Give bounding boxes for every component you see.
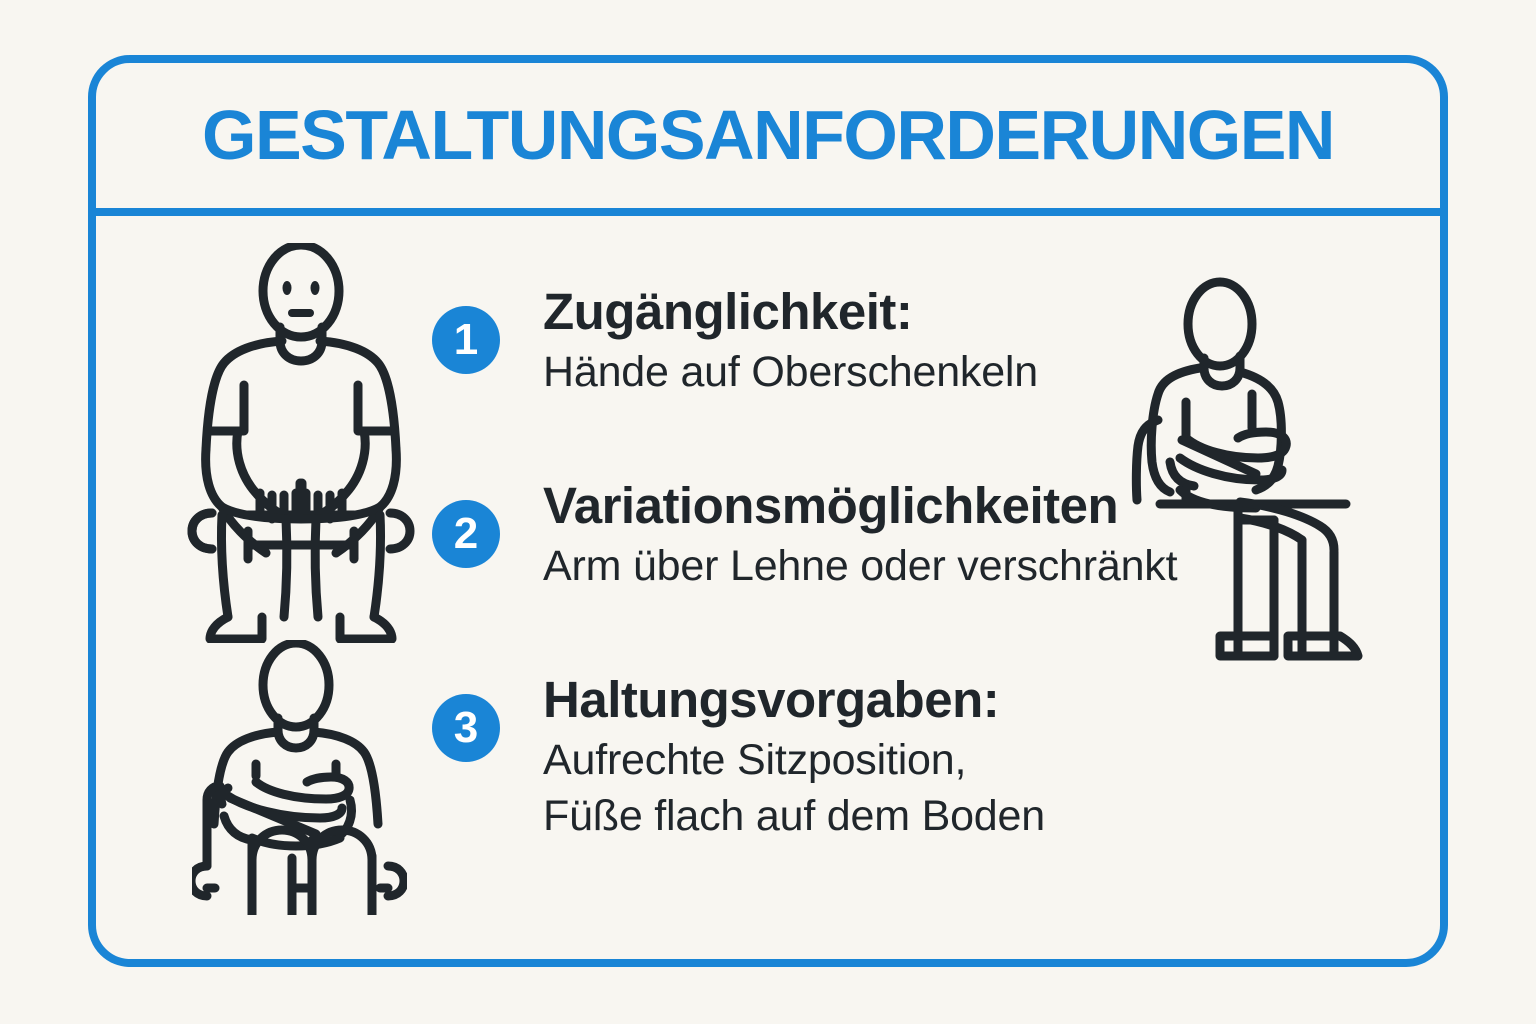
seated-person-arms-crossed-front-icon: [192, 640, 407, 915]
item-subtitle-line: Aufrechte Sitzposition,: [543, 732, 1283, 788]
item-number-badge: 3: [432, 694, 500, 762]
infographic-canvas: GESTALTUNGSANFORDERUNGEN: [0, 0, 1536, 1024]
page-title: GESTALTUNGSANFORDERUNGEN: [88, 96, 1448, 174]
title-divider: [88, 208, 1448, 216]
item-text-block: Haltungsvorgaben: Aufrechte Sitzposition…: [543, 668, 1283, 844]
item-subtitle-line: Hände auf Oberschenkeln: [543, 344, 1283, 400]
item-heading: Variationsmöglichkeiten: [543, 474, 1283, 538]
item-heading: Haltungsvorgaben:: [543, 668, 1283, 732]
item-heading: Zugänglichkeit:: [543, 280, 1283, 344]
item-subtitle-line: Arm über Lehne oder verschränkt: [543, 538, 1283, 594]
seated-person-hands-on-thighs-front-icon: [186, 243, 416, 643]
item-text-block: Zugänglichkeit: Hände auf Oberschenkeln: [543, 280, 1283, 400]
item-text-block: Variationsmöglichkeiten Arm über Lehne o…: [543, 474, 1283, 594]
item-number-badge: 1: [432, 306, 500, 374]
item-subtitle-line: Füße flach auf dem Boden: [543, 788, 1283, 844]
item-number-badge: 2: [432, 500, 500, 568]
